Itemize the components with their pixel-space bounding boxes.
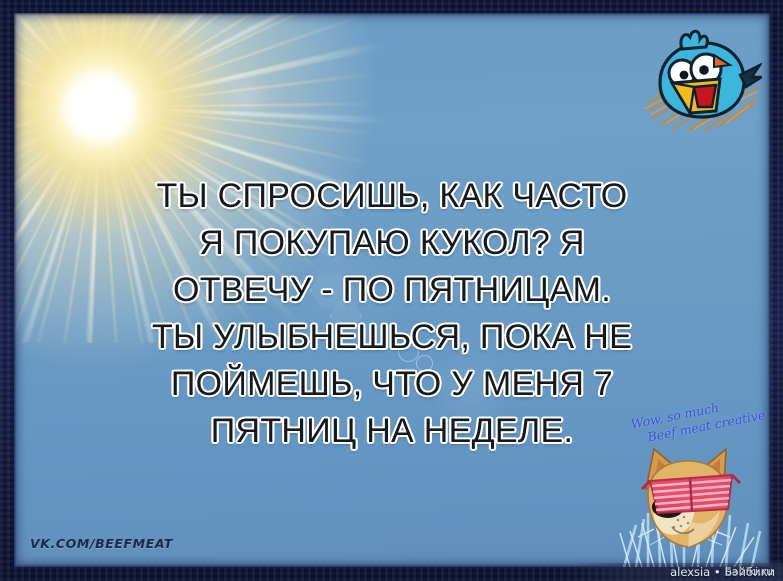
blue-angry-bird-icon (642, 25, 762, 137)
caption-line: Я ПОКУПАЮ КУКОЛ? Я (14, 220, 770, 267)
vk-watermark: VK.COM/BEEFMEAT (30, 536, 173, 551)
photo-canvas: Wow, so much Beef meat creative (14, 13, 770, 567)
sun-core (57, 64, 143, 150)
lens-flare-ring (416, 355, 433, 372)
caption-line: ПОЙМЕШЬ, ЧТО У МЕНЯ 7 (14, 361, 770, 408)
caption-line: ТЫ УЛЫБНЕШЬСЯ, ПОКА НЕ (14, 314, 770, 361)
doge-note-line1: Wow, so much (630, 400, 721, 432)
lens-flare-hexagon (254, 133, 406, 265)
credit-overlap-text: babiki.ru (725, 563, 773, 581)
bokeh-circle (434, 353, 506, 425)
doge-shiba-icon (628, 435, 754, 563)
credit-watermark: alexsia • Бэйбики babiki.ru (666, 563, 779, 581)
meme-image: Wow, so much Beef meat creative (0, 0, 783, 581)
